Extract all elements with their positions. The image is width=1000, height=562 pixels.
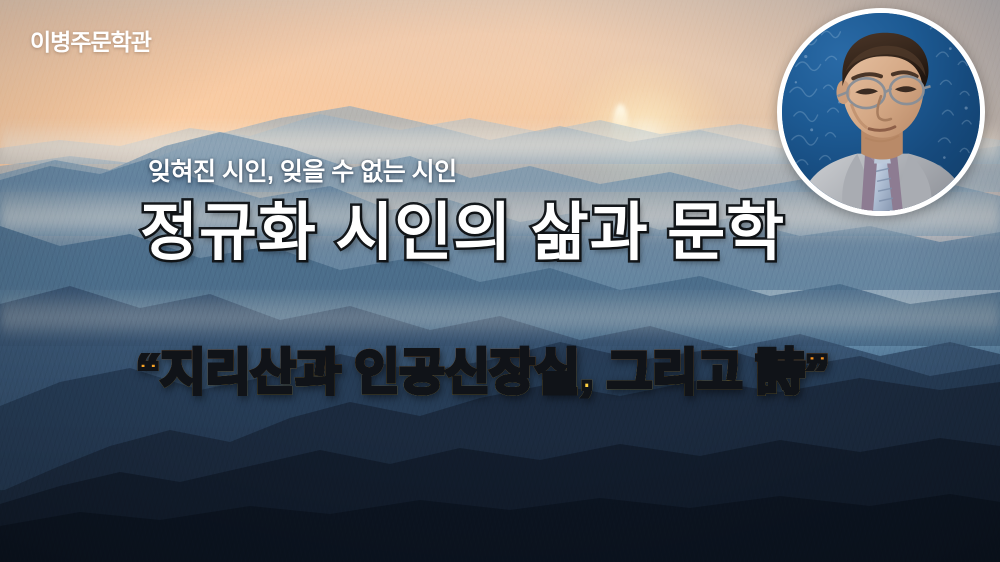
banner-stage: 이병주문학관: [0, 0, 1000, 562]
museum-logo[interactable]: 이병주문학관: [30, 23, 151, 57]
portrait-subject: [782, 13, 980, 211]
ridge-fore-3: [0, 482, 1000, 562]
event-subtitle: 잊혀진 시인, 잊을 수 없는 시인: [148, 152, 457, 188]
page-title: 정규화 시인의 삶과 문학: [140, 200, 785, 266]
event-quote: “지리산과 인공신장실, 그리고 詩”: [136, 348, 829, 400]
poet-portrait: [777, 8, 985, 216]
